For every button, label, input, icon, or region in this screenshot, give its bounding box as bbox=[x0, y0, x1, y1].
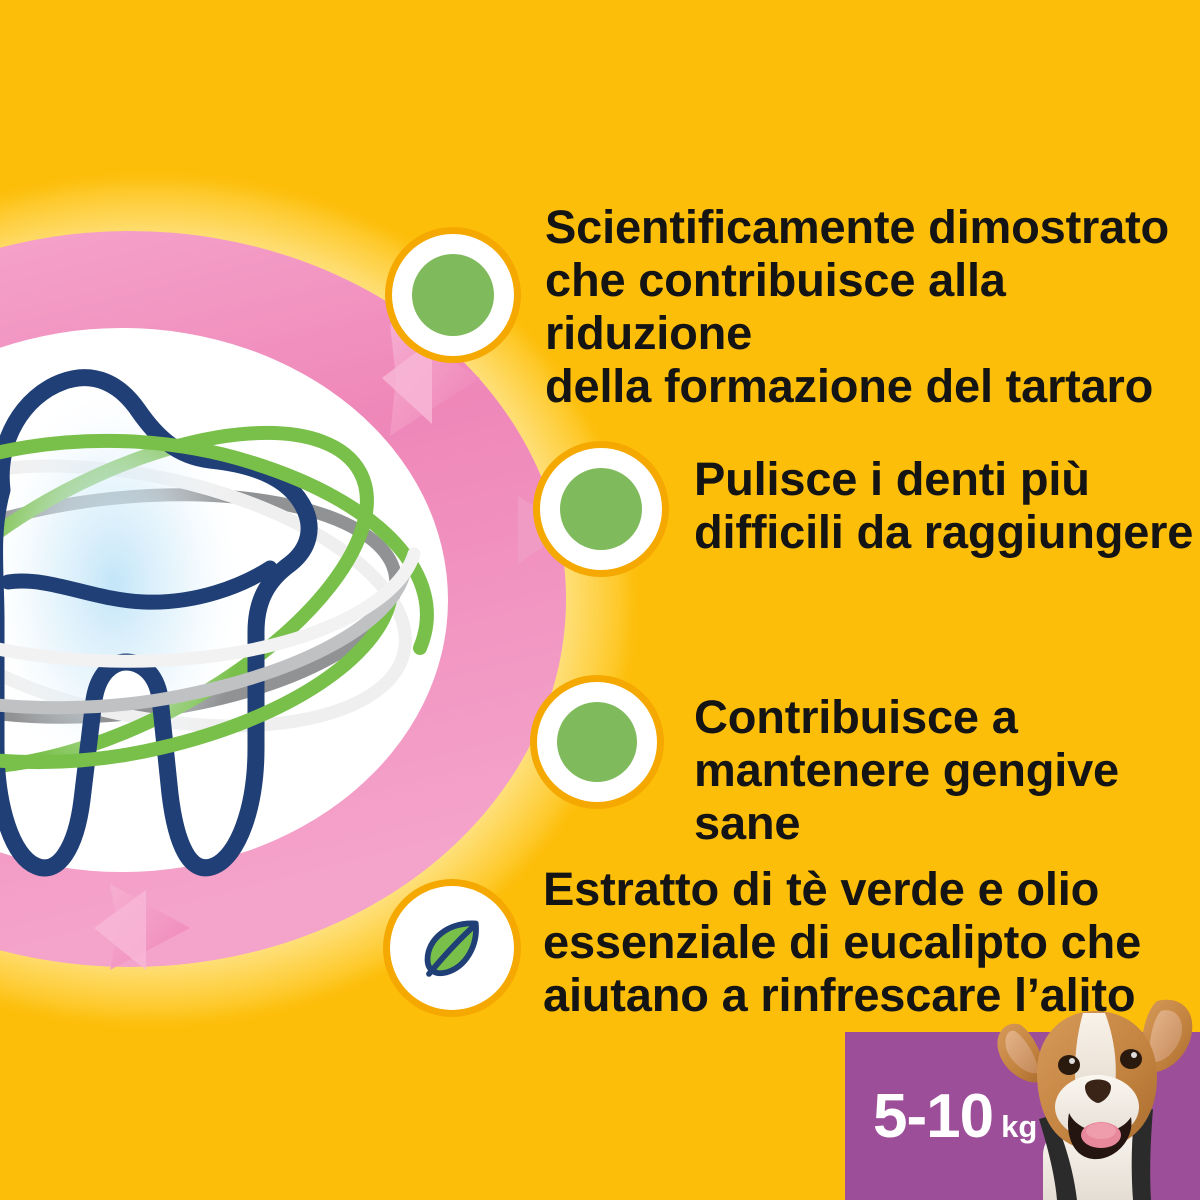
promo-canvas: Scientificamente dimostrato che contribu… bbox=[0, 0, 1200, 1200]
jack-russell-terrier-photo bbox=[985, 995, 1200, 1200]
leaf-icon bbox=[390, 886, 514, 1010]
dog-right-eye bbox=[1120, 1049, 1142, 1069]
leaf-icon-glyph bbox=[416, 912, 488, 984]
green-dot-icon bbox=[540, 448, 662, 570]
green-dot-core bbox=[412, 254, 494, 336]
benefit-text-3: Contribuisce a mantenere gengive sane bbox=[694, 690, 1200, 849]
benefit-text-1: Scientificamente dimostrato che contribu… bbox=[545, 200, 1200, 412]
green-dot-icon bbox=[392, 234, 514, 356]
weight-range-value: 5-10 bbox=[873, 1081, 993, 1152]
green-dot-icon bbox=[537, 682, 657, 802]
green-dot-core bbox=[560, 468, 642, 550]
dog-left-eye bbox=[1058, 1055, 1080, 1075]
green-dot-core bbox=[557, 702, 637, 782]
benefit-text-2: Pulisce i denti più difficili da raggiun… bbox=[694, 452, 1193, 558]
